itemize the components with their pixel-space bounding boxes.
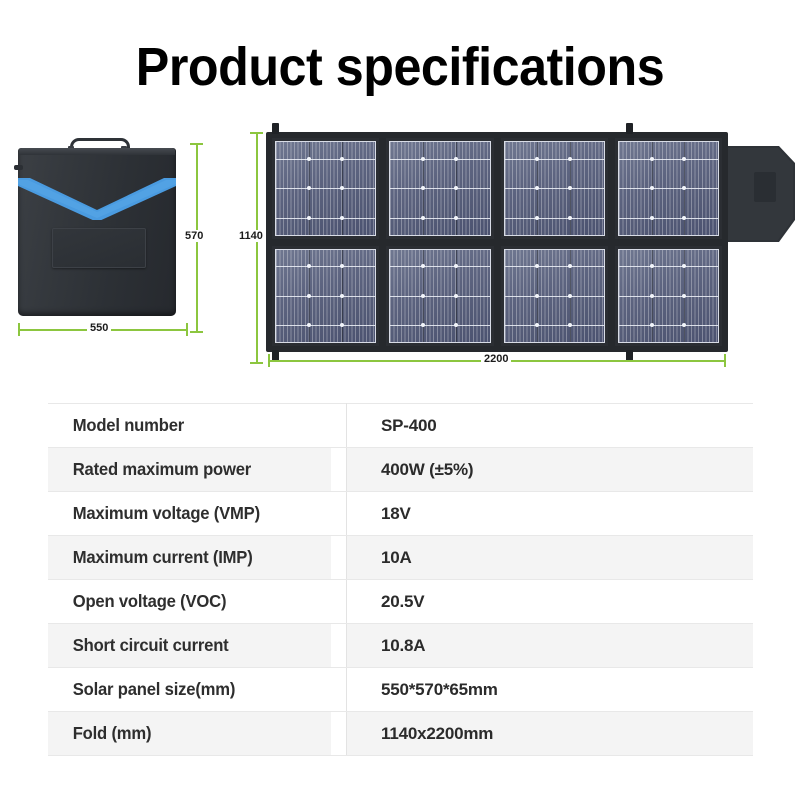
- spec-value: SP-400: [347, 404, 754, 448]
- solar-cell-surface: [389, 141, 490, 236]
- cell-contact-dot: [650, 186, 654, 190]
- cell-contact-dot: [650, 157, 654, 161]
- spec-value: 400W (±5%): [347, 448, 754, 492]
- cell-contact-dot: [535, 157, 539, 161]
- dimension-label-2200: 2200: [481, 353, 511, 365]
- cell-contact-dot: [340, 294, 344, 298]
- spec-value: 550*570*65mm: [347, 668, 754, 712]
- cell-contact-dot: [307, 216, 311, 220]
- cell-busbar: [505, 325, 604, 326]
- page-title: Product specifications: [28, 36, 772, 98]
- solar-cell-surface: [618, 249, 719, 344]
- cell-contact-dot: [307, 323, 311, 327]
- panel-eyelet-top-right: [626, 123, 633, 134]
- spec-label: Model number: [48, 404, 332, 448]
- spec-label: Rated maximum power: [48, 448, 332, 492]
- cell-contact-dot: [682, 323, 686, 327]
- unfolded-solar-panel: [266, 132, 728, 352]
- cell-busbar: [619, 296, 718, 297]
- cell-contact-dot: [454, 157, 458, 161]
- spec-label: Maximum voltage (VMP): [48, 492, 332, 536]
- cell-contact-dot: [454, 264, 458, 268]
- solar-cell-surface: [504, 249, 605, 344]
- cell-contact-dot: [568, 186, 572, 190]
- cell-contact-dot: [682, 264, 686, 268]
- cell-contact-dot: [568, 216, 572, 220]
- cell-contact-dot: [421, 294, 425, 298]
- panel-eyelet-top-left: [272, 123, 279, 134]
- dimension-label-570: 570: [182, 230, 206, 242]
- cell-busbar: [505, 296, 604, 297]
- solar-cell-block: [272, 138, 379, 239]
- solar-cell-surface: [389, 249, 490, 344]
- dimension-label-550: 550: [87, 322, 111, 334]
- cell-busbar: [276, 296, 375, 297]
- product-illustration: 570 550 1140 2200: [0, 110, 800, 385]
- cell-contact-dot: [340, 157, 344, 161]
- cell-contact-dot: [454, 323, 458, 327]
- cell-busbar: [390, 266, 489, 267]
- table-row: Fold (mm)1140x2200mm: [48, 712, 753, 756]
- table-row: Short circuit current10.8A: [48, 624, 753, 668]
- spec-label: Fold (mm): [48, 712, 332, 756]
- solar-cell-surface: [504, 141, 605, 236]
- solar-cell-block: [386, 246, 493, 347]
- cell-busbar: [276, 325, 375, 326]
- cell-contact-dot: [454, 216, 458, 220]
- cell-contact-dot: [421, 186, 425, 190]
- table-row: Rated maximum power400W (±5%): [48, 448, 753, 492]
- solar-cell-surface: [275, 141, 376, 236]
- cell-contact-dot: [650, 294, 654, 298]
- cell-busbar: [619, 218, 718, 219]
- cell-busbar: [619, 159, 718, 160]
- cell-contact-dot: [454, 294, 458, 298]
- dimension-label-1140: 1140: [236, 230, 266, 242]
- cell-busbar: [276, 188, 375, 189]
- cell-contact-dot: [307, 186, 311, 190]
- cell-busbar: [390, 188, 489, 189]
- solar-cell-surface: [275, 249, 376, 344]
- spec-label: Solar panel size(mm): [48, 668, 332, 712]
- cell-contact-dot: [568, 157, 572, 161]
- specifications-table: Model numberSP-400Rated maximum power400…: [48, 403, 753, 756]
- cell-contact-dot: [307, 294, 311, 298]
- spec-value: 1140x2200mm: [347, 712, 754, 756]
- solar-cell-block: [501, 246, 608, 347]
- cell-busbar: [390, 296, 489, 297]
- cell-busbar: [505, 218, 604, 219]
- cell-contact-dot: [650, 323, 654, 327]
- table-row: Maximum current (IMP)10A: [48, 536, 753, 580]
- cell-contact-dot: [535, 216, 539, 220]
- spec-label: Open voltage (VOC): [48, 580, 332, 624]
- cell-busbar: [619, 188, 718, 189]
- cell-busbar: [505, 266, 604, 267]
- solar-cell-block: [615, 138, 722, 239]
- table-row: Open voltage (VOC)20.5V: [48, 580, 753, 624]
- solar-cell-block: [501, 138, 608, 239]
- cell-contact-dot: [307, 157, 311, 161]
- cell-contact-dot: [535, 186, 539, 190]
- cell-busbar: [505, 188, 604, 189]
- cell-busbar: [619, 325, 718, 326]
- cell-contact-dot: [535, 294, 539, 298]
- cell-contact-dot: [568, 264, 572, 268]
- cell-contact-dot: [535, 264, 539, 268]
- cell-busbar: [276, 218, 375, 219]
- cell-contact-dot: [535, 323, 539, 327]
- table-row: Maximum voltage (VMP)18V: [48, 492, 753, 536]
- cell-contact-dot: [682, 294, 686, 298]
- spec-label: Maximum current (IMP): [48, 536, 332, 580]
- cell-contact-dot: [421, 323, 425, 327]
- table-row: Model numberSP-400: [48, 404, 753, 448]
- cell-contact-dot: [340, 186, 344, 190]
- solar-cell-block: [272, 246, 379, 347]
- cell-contact-dot: [568, 323, 572, 327]
- cell-busbar: [390, 218, 489, 219]
- bag-blue-stripe: [18, 178, 176, 220]
- cell-contact-dot: [421, 157, 425, 161]
- cell-contact-dot: [421, 216, 425, 220]
- cell-contact-dot: [421, 264, 425, 268]
- cell-busbar: [390, 325, 489, 326]
- solar-cell-block: [615, 246, 722, 347]
- cell-contact-dot: [307, 264, 311, 268]
- cell-contact-dot: [454, 186, 458, 190]
- panel-side-flap: [721, 146, 795, 242]
- bag-front-pocket: [52, 228, 146, 268]
- cell-contact-dot: [650, 216, 654, 220]
- spec-label: Short circuit current: [48, 624, 332, 668]
- cell-busbar: [276, 159, 375, 160]
- cell-contact-dot: [340, 216, 344, 220]
- cell-contact-dot: [682, 157, 686, 161]
- cell-contact-dot: [340, 264, 344, 268]
- spec-value: 10A: [347, 536, 754, 580]
- solar-cell-grid: [272, 138, 722, 346]
- cell-contact-dot: [682, 216, 686, 220]
- cell-busbar: [390, 159, 489, 160]
- bag-top-edge: [19, 148, 175, 155]
- cell-contact-dot: [568, 294, 572, 298]
- solar-cell-block: [386, 138, 493, 239]
- cell-busbar: [505, 159, 604, 160]
- cell-contact-dot: [682, 186, 686, 190]
- cell-busbar: [276, 266, 375, 267]
- spec-value: 20.5V: [347, 580, 754, 624]
- bag-zipper-tab-icon: [14, 165, 23, 170]
- folded-solar-panel-bag: [18, 138, 176, 316]
- cell-contact-dot: [340, 323, 344, 327]
- table-row: Solar panel size(mm)550*570*65mm: [48, 668, 753, 712]
- cell-contact-dot: [650, 264, 654, 268]
- solar-cell-surface: [618, 141, 719, 236]
- cell-busbar: [619, 266, 718, 267]
- spec-value: 18V: [347, 492, 754, 536]
- spec-value: 10.8A: [347, 624, 754, 668]
